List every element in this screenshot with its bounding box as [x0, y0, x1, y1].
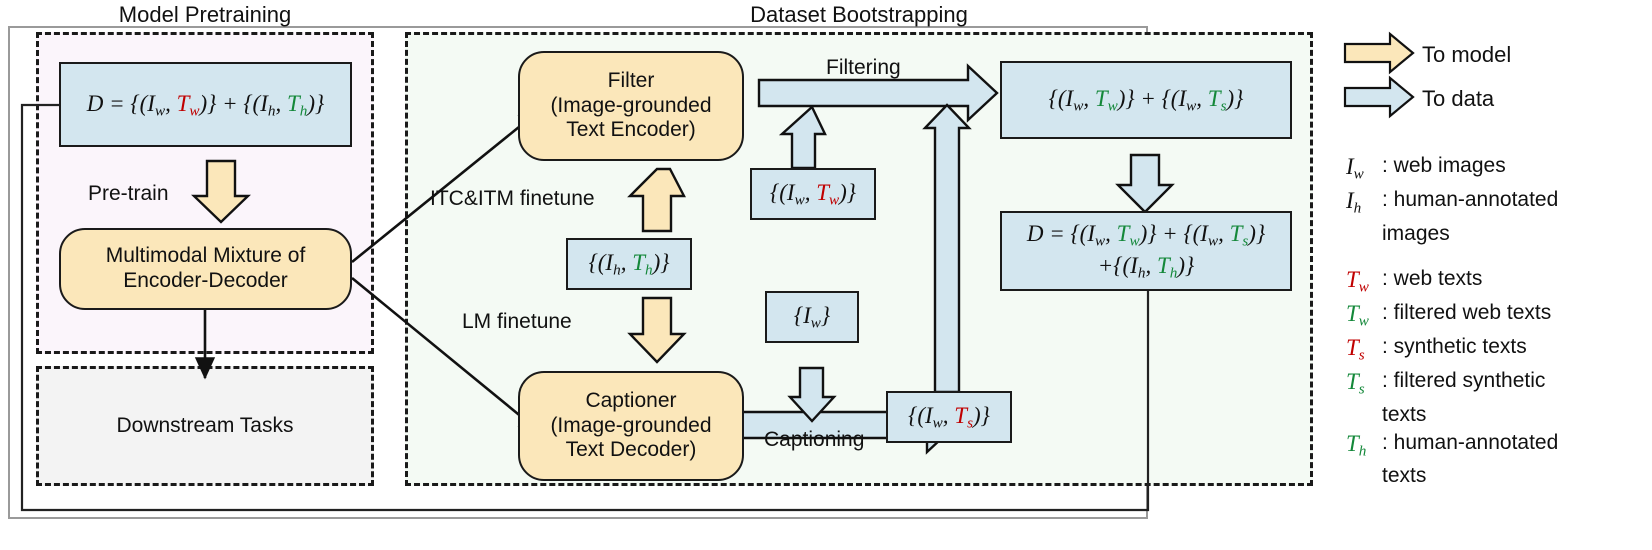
glossary-def-Tw-red: : web texts: [1380, 265, 1482, 292]
human-annotated-box: {(Ih, Th)}: [566, 238, 692, 290]
captioner-box: Captioner (Image-grounded Text Decoder): [518, 371, 744, 481]
bootstrapping-section-title: Dataset Bootstrapping: [405, 2, 1313, 28]
glossary-cont-Ih: images: [1346, 220, 1646, 247]
web-pair-box: {(Iw, Tw)}: [750, 168, 876, 220]
captioner-label: Captioner (Image-grounded Text Decoder): [550, 389, 711, 463]
med-line1: Multimodal Mixture of: [106, 244, 306, 267]
filter-line3: Text Encoder): [566, 118, 696, 141]
glossary-cont-Ts-green: texts: [1346, 401, 1646, 428]
glossary-cont-Th: texts: [1346, 462, 1646, 489]
pretraining-section-title: Model Pretraining: [36, 2, 374, 28]
glossary-item-Ts-green: Ts : filtered synthetic: [1346, 367, 1646, 399]
dataset-box-math: D = {(Iw, Tw)} + {(Ih, Th)}: [87, 89, 324, 121]
synthetic-pair-box: {(Iw, Ts)}: [886, 391, 1012, 443]
filter-line2: (Image-grounded: [550, 94, 711, 117]
glossary-def-Ts-red: : synthetic texts: [1380, 333, 1527, 360]
final-dataset-box: D = {(Iw, Tw)} + {(Iw, Ts)} +{(Ih, Th)}: [1000, 211, 1292, 291]
multimodal-mixture-box: Multimodal Mixture of Encoder-Decoder: [59, 228, 352, 310]
synthetic-pair-math: {(Iw, Ts)}: [908, 401, 990, 433]
glossary-item-Tw-red: Tw : web texts: [1346, 265, 1646, 297]
filter-box: Filter (Image-grounded Text Encoder): [518, 51, 744, 161]
glossary-def-Ih: : human-annotated: [1380, 186, 1558, 213]
pretrain-label: Pre-train: [88, 182, 169, 206]
web-images-math: {Iw}: [794, 301, 830, 333]
glossary-symbol-Ih: Ih: [1346, 186, 1380, 218]
glossary-item-Tw-green: Tw : filtered web texts: [1346, 299, 1646, 331]
glossary-symbol-Tw-green: Tw: [1346, 299, 1380, 331]
glossary-symbol-Tw-red: Tw: [1346, 265, 1380, 297]
glossary-symbol-Iw: Iw: [1346, 152, 1380, 184]
diagram-canvas: Model Pretraining Dataset Bootstrapping: [0, 0, 1652, 550]
downstream-tasks-label: Downstream Tasks: [116, 414, 293, 438]
glossary-symbol-Th: Th: [1346, 429, 1380, 461]
legend-to-data-label: To data: [1422, 86, 1494, 112]
web-images-box: {Iw}: [765, 291, 859, 343]
filter-label: Filter (Image-grounded Text Encoder): [550, 69, 711, 143]
glossary-item-Ih: Ih : human-annotated: [1346, 186, 1646, 218]
med-line2: Encoder-Decoder: [123, 269, 288, 292]
glossary-def-Iw: : web images: [1380, 152, 1506, 179]
dataset-box: D = {(Iw, Tw)} + {(Ih, Th)}: [59, 62, 352, 147]
web-pair-math: {(Iw, Tw)}: [770, 178, 856, 210]
filtered-pairs-box: {(Iw, Tw)} + {(Iw, Ts)}: [1000, 61, 1292, 139]
glossary-item-Th: Th : human-annotated: [1346, 429, 1646, 461]
captioner-line3: Text Decoder): [566, 438, 697, 461]
filter-line1: Filter: [608, 69, 655, 92]
lm-finetune-label: LM finetune: [462, 310, 572, 334]
multimodal-mixture-label: Multimodal Mixture of Encoder-Decoder: [106, 244, 306, 294]
filtered-pairs-math: {(Iw, Tw)} + {(Iw, Ts)}: [1049, 84, 1244, 116]
final-dataset-math: D = {(Iw, Tw)} + {(Iw, Ts)} +{(Ih, Th)}: [1027, 219, 1265, 282]
filtering-label: Filtering: [826, 56, 901, 80]
legend-glossary: Iw : web images Ih : human-annotated ima…: [1346, 152, 1646, 490]
captioning-label: Captioning: [764, 428, 864, 452]
downstream-tasks-content: Downstream Tasks: [36, 366, 374, 486]
legend-panel: To model To data Iw : web images Ih : hu…: [1330, 32, 1644, 486]
captioner-line2: (Image-grounded: [550, 414, 711, 437]
glossary-item-Ts-red: Ts : synthetic texts: [1346, 333, 1646, 365]
captioner-line1: Captioner: [585, 389, 676, 412]
glossary-def-Tw-green: : filtered web texts: [1380, 299, 1551, 326]
legend-to-model-label: To model: [1422, 42, 1511, 68]
glossary-item-Iw: Iw : web images: [1346, 152, 1646, 184]
glossary-def-Ts-green: : filtered synthetic: [1380, 367, 1545, 394]
glossary-symbol-Ts-red: Ts: [1346, 333, 1380, 365]
glossary-symbol-Ts-green: Ts: [1346, 367, 1380, 399]
human-annotated-math: {(Ih, Th)}: [589, 248, 670, 280]
glossary-def-Th: : human-annotated: [1380, 429, 1558, 456]
itc-itm-finetune-label: ITC&ITM finetune: [430, 187, 595, 211]
